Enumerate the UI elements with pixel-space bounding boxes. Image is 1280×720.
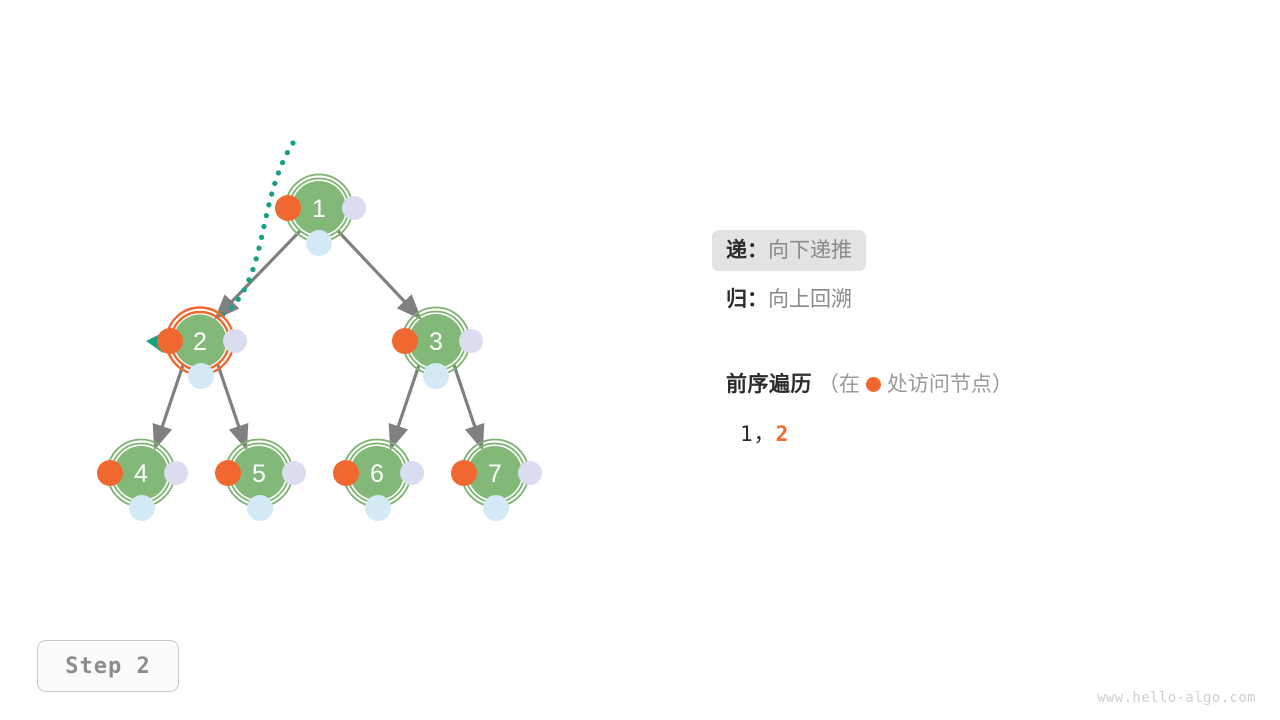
- node-slot-left-dot: [451, 460, 477, 486]
- info-panel: 递：向下递推 归：向上回溯 前序遍历 （在处访问节点） 1，2: [726, 230, 1246, 448]
- node-label: 2: [193, 328, 207, 356]
- edge-3-7: [454, 365, 482, 448]
- sequence-current: 2: [776, 422, 790, 446]
- edge-2-4: [155, 365, 183, 448]
- traversal-block: 前序遍历 （在处访问节点） 1，2: [726, 368, 1246, 448]
- node-slot-left-dot: [275, 195, 301, 221]
- node-label: 7: [488, 460, 502, 488]
- node-slot-bottom-dot: [306, 230, 332, 256]
- tree-node-5[interactable]: 5: [215, 440, 306, 522]
- edge-1-2: [216, 231, 300, 318]
- tree-node-4[interactable]: 4: [97, 440, 188, 522]
- node-slot-left-dot: [157, 328, 183, 354]
- legend-key-descend: 递: [726, 239, 747, 262]
- node-slot-right-dot: [164, 461, 188, 485]
- node-slot-left-dot: [215, 460, 241, 486]
- legend-text-descend: 向下递推: [768, 239, 852, 262]
- node-slot-left-dot: [392, 328, 418, 354]
- tree-node-7[interactable]: 7: [451, 440, 542, 522]
- traversal-title: 前序遍历: [726, 373, 812, 396]
- recursion-path-group: [146, 143, 293, 353]
- legend-sep-descend: ：: [747, 239, 768, 262]
- node-slot-right-dot: [223, 329, 247, 353]
- node-slot-right-dot: [459, 329, 483, 353]
- binary-tree-diagram: 1 2 3 4: [0, 0, 640, 600]
- node-slot-right-dot: [400, 461, 424, 485]
- node-slot-bottom-dot: [423, 363, 449, 389]
- node-label: 6: [370, 460, 384, 488]
- node-slot-bottom-dot: [129, 495, 155, 521]
- node-slot-right-dot: [282, 461, 306, 485]
- traversal-note-close: 处访问节点）: [887, 373, 1013, 396]
- legend-row-ascend: 归：向上回溯: [712, 279, 1246, 320]
- node-slot-bottom-dot: [188, 363, 214, 389]
- node-slot-bottom-dot: [365, 495, 391, 521]
- traversal-sequence: 1，2: [726, 418, 1246, 448]
- site-watermark: www.hello-algo.com: [1097, 690, 1256, 706]
- legend-sep-ascend: ：: [747, 288, 768, 311]
- node-slot-right-dot: [342, 196, 366, 220]
- node-slot-bottom-dot: [483, 495, 509, 521]
- canvas: 1 2 3 4: [0, 0, 1280, 720]
- recursion-dotted-path: [158, 143, 293, 341]
- edge-1-3: [338, 231, 420, 318]
- node-slot-bottom-dot: [247, 495, 273, 521]
- legend-key-ascend: 归: [726, 288, 747, 311]
- node-label: 3: [429, 328, 443, 356]
- edge-3-6: [391, 365, 419, 448]
- node-slot-left-dot: [333, 460, 359, 486]
- step-badge: Step 2: [37, 640, 179, 692]
- traversal-title-row: 前序遍历 （在处访问节点）: [726, 368, 1246, 398]
- traversal-note-open: （在: [818, 373, 860, 396]
- legend-row-descend: 递：向下递推: [712, 230, 866, 271]
- tree-node-3[interactable]: 3: [392, 308, 483, 390]
- node-slot-right-dot: [518, 461, 542, 485]
- edge-2-5: [218, 365, 246, 448]
- legend-text-ascend: 向上回溯: [768, 288, 852, 311]
- orange-dot-icon: [866, 377, 881, 392]
- node-label: 4: [134, 460, 148, 488]
- node-label: 1: [312, 195, 326, 223]
- sequence-previous: 1，: [740, 422, 776, 446]
- node-label: 5: [252, 460, 266, 488]
- tree-node-6[interactable]: 6: [333, 440, 424, 522]
- tree-node-2[interactable]: 2: [157, 308, 247, 390]
- node-slot-left-dot: [97, 460, 123, 486]
